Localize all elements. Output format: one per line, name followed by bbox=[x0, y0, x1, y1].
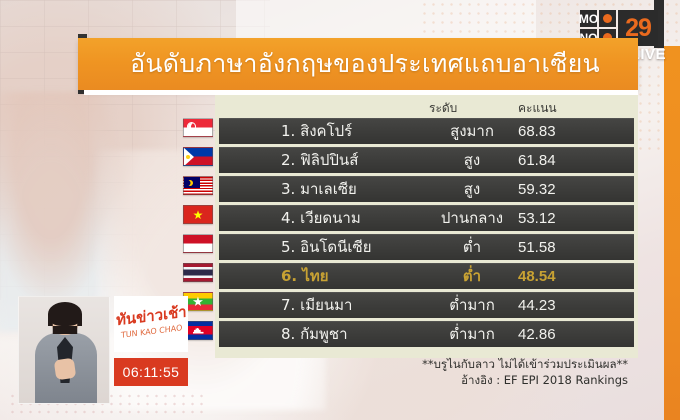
flag-philippines bbox=[183, 147, 213, 166]
table-row: 5. อินโดนีเซียต่ำ51.58 bbox=[219, 234, 634, 260]
row-rank-name: 3. มาเลเซีย bbox=[281, 177, 357, 201]
row-score: 48.54 bbox=[518, 268, 556, 285]
footnote-line-2: อ้างอิง : EF EPI 2018 Rankings bbox=[215, 372, 628, 388]
mono-logo-letter-m: MO bbox=[580, 10, 597, 27]
title-banner: อันดับภาษาอังกฤษของประเทศแถบอาเซียน bbox=[78, 38, 638, 90]
program-logo-text: ทันข่าวเช้า TUN KAO CHAO bbox=[116, 305, 187, 344]
sign-language-interpreter-box bbox=[18, 296, 110, 404]
table-row: 7. เมียนมาต่ำมาก44.23 bbox=[219, 292, 634, 318]
row-level: ต่ำมาก bbox=[429, 322, 515, 346]
row-level: สูงมาก bbox=[429, 119, 515, 143]
row-level: ปานกลาง bbox=[429, 206, 515, 230]
row-score: 44.23 bbox=[518, 297, 556, 314]
row-score: 59.32 bbox=[518, 181, 556, 198]
row-score: 42.86 bbox=[518, 326, 556, 343]
interpreter-hair bbox=[48, 302, 82, 326]
row-rank-name: 2. ฟิลิปปินส์ bbox=[281, 148, 358, 172]
footnote: **บรูไนกับลาว ไม่ได้เข้าร่วมประเมินผล** … bbox=[215, 356, 638, 388]
flag-vietnam bbox=[183, 205, 213, 224]
row-rank-name: 1. สิงคโปร์ bbox=[281, 119, 352, 143]
broadcast-clock: 06:11:55 bbox=[114, 358, 188, 386]
table-row: 4. เวียดนามปานกลาง53.12 bbox=[219, 205, 634, 231]
right-orange-rail bbox=[664, 46, 680, 420]
interpreter-hands bbox=[54, 358, 77, 381]
row-level: ต่ำมาก bbox=[429, 293, 515, 317]
broadcast-screen: MO NO 29 LIVE อันดับภาษาอังกฤษของประเทศแ… bbox=[0, 0, 680, 420]
flag-malaysia bbox=[183, 176, 213, 195]
row-level: ต่ำ bbox=[429, 235, 515, 259]
row-score: 51.58 bbox=[518, 239, 556, 256]
flag-thailand bbox=[183, 263, 213, 282]
row-rank-name: 4. เวียดนาม bbox=[281, 206, 361, 230]
table-row: 3. มาเลเซียสูง59.32 bbox=[219, 176, 634, 202]
table-row: 1. สิงคโปร์สูงมาก68.83 bbox=[219, 118, 634, 144]
table-row: 8. กัมพูชาต่ำมาก42.86 bbox=[219, 321, 634, 347]
program-logo: ทันข่าวเช้า TUN KAO CHAO bbox=[114, 296, 188, 352]
row-level: สูง bbox=[429, 177, 515, 201]
mono-logo-row-1: MO bbox=[580, 10, 616, 27]
table-row: 6. ไทยต่ำ48.54 bbox=[219, 263, 634, 289]
ranking-table-panel: ระดับ คะแนน 1. สิงคโปร์สูงมาก68.832. ฟิล… bbox=[215, 95, 638, 358]
table-column-headers: ระดับ คะแนน bbox=[215, 97, 638, 119]
flag-singapore bbox=[183, 118, 213, 137]
row-rank-name: 7. เมียนมา bbox=[281, 293, 352, 317]
footnote-line-1: **บรูไนกับลาว ไม่ได้เข้าร่วมประเมินผล** bbox=[215, 356, 628, 372]
row-score: 53.12 bbox=[518, 210, 556, 227]
column-header-level: ระดับ bbox=[429, 99, 457, 118]
row-level: ต่ำ bbox=[429, 264, 515, 288]
flag-indonesia bbox=[183, 234, 213, 253]
clock-time: 06:11:55 bbox=[123, 364, 180, 380]
ranking-rows: 1. สิงคโปร์สูงมาก68.832. ฟิลิปปินส์สูง61… bbox=[219, 118, 634, 350]
page-title: อันดับภาษาอังกฤษของประเทศแถบอาเซียน bbox=[116, 44, 600, 84]
row-level: สูง bbox=[429, 148, 515, 172]
mono-logo-dot-1 bbox=[599, 10, 616, 27]
row-score: 68.83 bbox=[518, 123, 556, 140]
table-row: 2. ฟิลิปปินส์สูง61.84 bbox=[219, 147, 634, 173]
row-rank-name: 6. ไทย bbox=[281, 264, 329, 288]
column-header-score: คะแนน bbox=[518, 99, 557, 118]
row-score: 61.84 bbox=[518, 152, 556, 169]
row-rank-name: 8. กัมพูชา bbox=[281, 322, 348, 346]
row-rank-name: 5. อินโดนีเซีย bbox=[281, 235, 372, 259]
